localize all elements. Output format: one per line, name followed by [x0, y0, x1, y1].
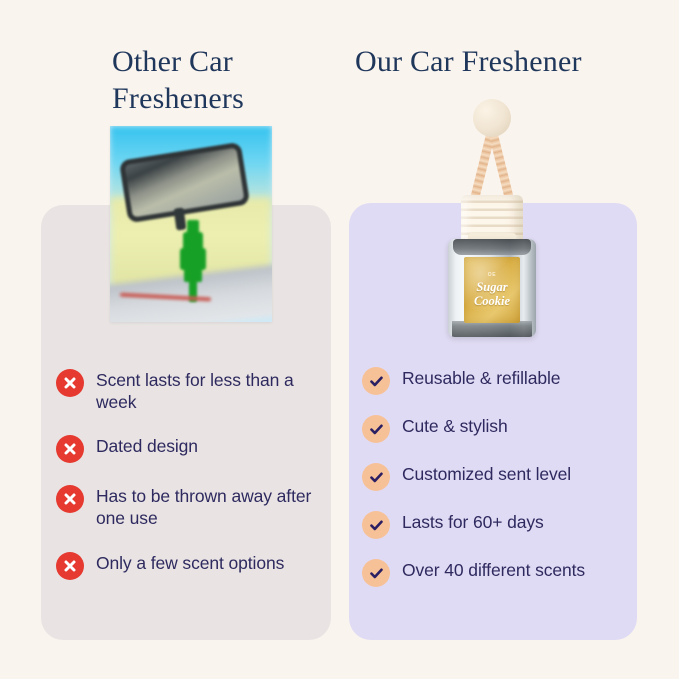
bottle-wood-bead — [473, 99, 511, 137]
list-item-label: Customized sent level — [402, 462, 571, 486]
our-freshener-feature-list: Reusable & refillable Cute & stylish Cus… — [362, 366, 634, 606]
list-item: Lasts for 60+ days — [362, 510, 634, 539]
x-circle-icon — [56, 435, 84, 463]
x-circle-icon — [56, 552, 84, 580]
list-item: Cute & stylish — [362, 414, 634, 443]
list-item-label: Dated design — [96, 434, 198, 458]
list-item-label: Scent lasts for less than a week — [96, 368, 328, 413]
bottle-liquid-bottom — [452, 321, 533, 337]
list-item: Customized sent level — [362, 462, 634, 491]
check-circle-icon — [362, 415, 390, 443]
check-circle-icon — [362, 367, 390, 395]
list-item-label: Only a few scent options — [96, 551, 284, 575]
tree-air-freshener — [176, 220, 210, 306]
car-mirror-photo — [110, 126, 272, 322]
check-circle-icon — [362, 511, 390, 539]
left-column-title: Other Car Fresheners — [112, 44, 322, 117]
other-fresheners-feature-list: Scent lasts for less than a week Dated d… — [56, 368, 328, 601]
bottle-brand-mark: OE — [488, 272, 496, 278]
bottle-glass-body: OE Sugar Cookie — [448, 239, 536, 337]
bottle-scent-name-line1: Sugar — [476, 281, 507, 295]
bottle-scent-name-line2: Cookie — [474, 295, 510, 309]
list-item: Dated design — [56, 434, 328, 463]
list-item-label: Cute & stylish — [402, 414, 508, 438]
check-circle-icon — [362, 463, 390, 491]
list-item-label: Over 40 different scents — [402, 558, 585, 582]
comparison-infographic: Other Car Fresheners Our Car Freshener O… — [0, 0, 679, 679]
list-item-label: Lasts for 60+ days — [402, 510, 544, 534]
list-item: Reusable & refillable — [362, 366, 634, 395]
list-item-label: Has to be thrown away after one use — [96, 484, 328, 529]
list-item: Only a few scent options — [56, 551, 328, 580]
bottle-liquid-top — [453, 239, 530, 255]
list-item: Scent lasts for less than a week — [56, 368, 328, 413]
list-item: Has to be thrown away after one use — [56, 484, 328, 529]
list-item: Over 40 different scents — [362, 558, 634, 587]
x-circle-icon — [56, 485, 84, 513]
check-circle-icon — [362, 559, 390, 587]
list-item-label: Reusable & refillable — [402, 366, 560, 390]
product-bottle: OE Sugar Cookie — [432, 99, 552, 339]
right-column-title: Our Car Freshener — [355, 44, 645, 81]
bottle-label: OE Sugar Cookie — [464, 257, 520, 323]
x-circle-icon — [56, 369, 84, 397]
